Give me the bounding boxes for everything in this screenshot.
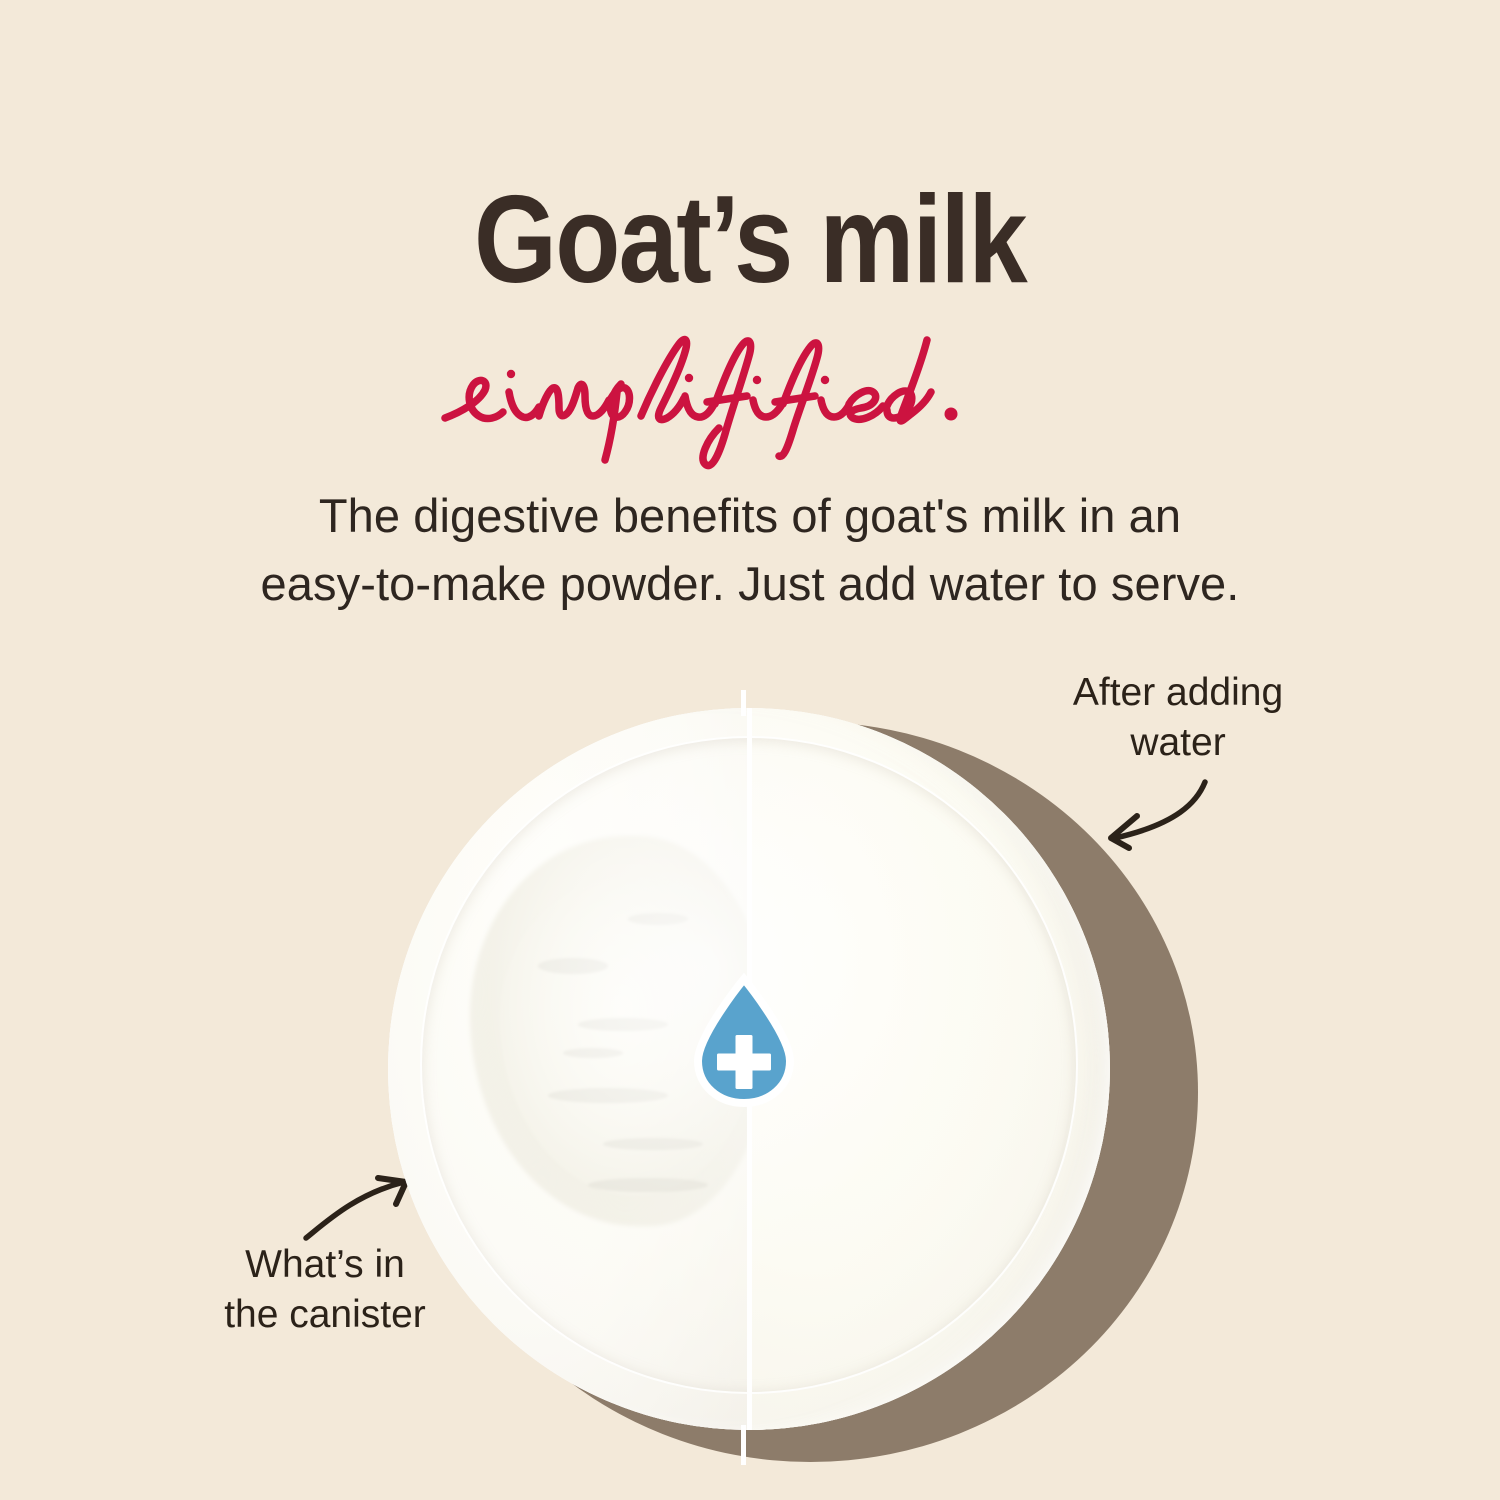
split-divider-line-top: [741, 690, 746, 716]
split-divider-line-bottom: [741, 1425, 746, 1465]
subtitle-line-2: easy-to-make powder. Just add water to s…: [150, 550, 1350, 618]
subtitle-line-1: The digestive benefits of goat's milk in…: [150, 482, 1350, 550]
subtitle: The digestive benefits of goat's milk in…: [150, 482, 1350, 617]
water-drop-plus-icon: [686, 973, 802, 1109]
script-subheading: simplified.: [435, 330, 1075, 465]
powder-texture: [538, 958, 608, 974]
page-title: Goat’s milk: [105, 178, 1395, 302]
powder-texture: [563, 1048, 623, 1058]
powder-texture: [603, 1138, 703, 1150]
powder-texture: [548, 1088, 668, 1103]
promo-image-canvas: Goat’s milk simplified.: [0, 0, 1500, 1500]
powder-texture: [588, 1178, 708, 1192]
bowl-half-liquid: [749, 708, 1110, 1430]
powder-texture: [578, 1018, 668, 1031]
powder-texture: [628, 913, 688, 925]
product-comparison-visual: [355, 690, 1235, 1480]
